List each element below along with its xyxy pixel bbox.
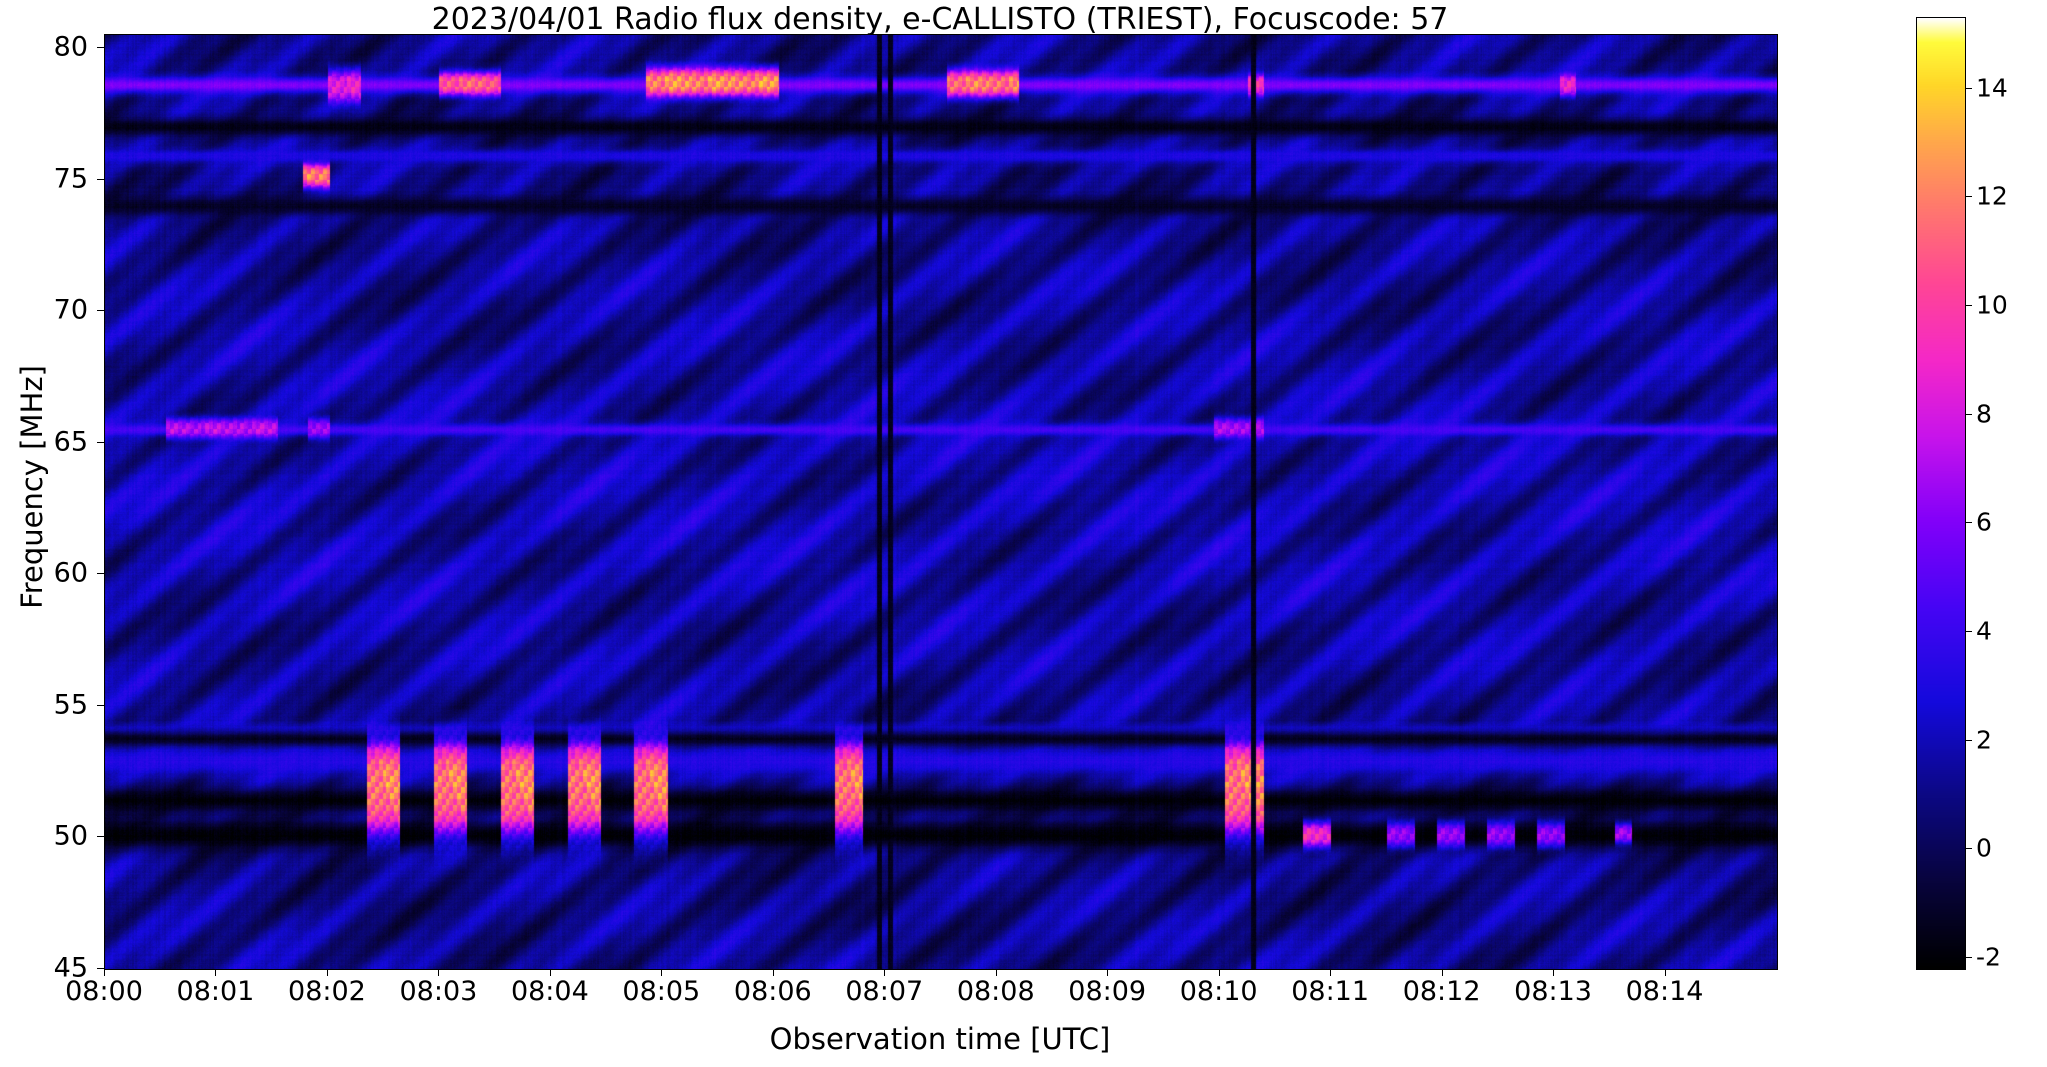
y-tick-mark [97,705,104,706]
x-tick-mark [104,969,105,976]
colorbar-gradient [1917,18,1965,969]
colorbar-tick-mark [1965,522,1972,523]
y-tick-label: 80 [0,32,88,63]
colorbar-tick-label: 10 [1976,291,2008,320]
x-tick-label: 08:07 [845,976,923,1007]
colorbar-tick-label: 4 [1976,617,1992,646]
y-tick-label: 50 [0,821,88,852]
x-tick-label: 08:11 [1291,976,1369,1007]
y-tick-label: 75 [0,163,88,194]
y-tick-mark [97,442,104,443]
y-tick-label: 70 [0,295,88,326]
colorbar-tick-mark [1965,740,1972,741]
x-tick-mark [1330,969,1331,976]
y-tick-mark [97,573,104,574]
x-tick-mark [996,969,997,976]
y-tick-label: 55 [0,689,88,720]
x-tick-mark [661,969,662,976]
x-axis-title: Observation time [UTC] [104,1022,1776,1056]
x-tick-label: 08:03 [399,976,477,1007]
x-tick-mark [550,969,551,976]
spectrogram-plot-area [104,34,1778,970]
y-tick-label: 60 [0,558,88,589]
x-tick-mark [1107,969,1108,976]
colorbar-tick-label: 8 [1976,399,1992,428]
x-tick-mark [438,969,439,976]
y-tick-mark [97,47,104,48]
x-tick-label: 08:05 [622,976,700,1007]
x-tick-mark [1219,969,1220,976]
colorbar-tick-label: 6 [1976,508,1992,537]
colorbar-tick-mark [1965,305,1972,306]
colorbar-tick-label: 2 [1976,725,1992,754]
colorbar-tick-mark [1965,88,1972,89]
x-tick-label: 08:01 [177,976,255,1007]
x-tick-mark [215,969,216,976]
y-tick-mark [97,836,104,837]
colorbar-tick-label: 14 [1976,73,2008,102]
x-tick-label: 08:12 [1403,976,1481,1007]
spectrogram-canvas [105,35,1777,969]
x-tick-mark [327,969,328,976]
x-tick-label: 08:13 [1514,976,1592,1007]
x-tick-label: 08:10 [1180,976,1258,1007]
colorbar-tick-label: -2 [1976,943,2001,972]
colorbar-tick-mark [1965,414,1972,415]
x-tick-mark [773,969,774,976]
y-tick-mark [97,179,104,180]
colorbar-tick-label: 12 [1976,182,2008,211]
x-tick-label: 08:14 [1626,976,1704,1007]
x-tick-label: 08:06 [734,976,812,1007]
colorbar-tick-mark [1965,848,1972,849]
x-tick-label: 08:08 [957,976,1035,1007]
x-tick-label: 08:00 [65,976,143,1007]
x-tick-label: 08:09 [1068,976,1146,1007]
x-tick-label: 08:04 [511,976,589,1007]
x-tick-mark [1665,969,1666,976]
page-title: 2023/04/01 Radio flux density, e-CALLIST… [104,2,1776,37]
y-tick-mark [97,968,104,969]
x-tick-mark [1442,969,1443,976]
y-tick-mark [97,310,104,311]
spectrogram-figure: 2023/04/01 Radio flux density, e-CALLIST… [0,0,2047,1067]
y-tick-label: 65 [0,426,88,457]
colorbar-tick-label: 0 [1976,834,1992,863]
colorbar-tick-mark [1965,631,1972,632]
colorbar [1916,17,1966,970]
x-tick-label: 08:02 [288,976,366,1007]
x-tick-mark [884,969,885,976]
colorbar-tick-mark [1965,957,1972,958]
x-tick-mark [1553,969,1554,976]
colorbar-tick-mark [1965,196,1972,197]
